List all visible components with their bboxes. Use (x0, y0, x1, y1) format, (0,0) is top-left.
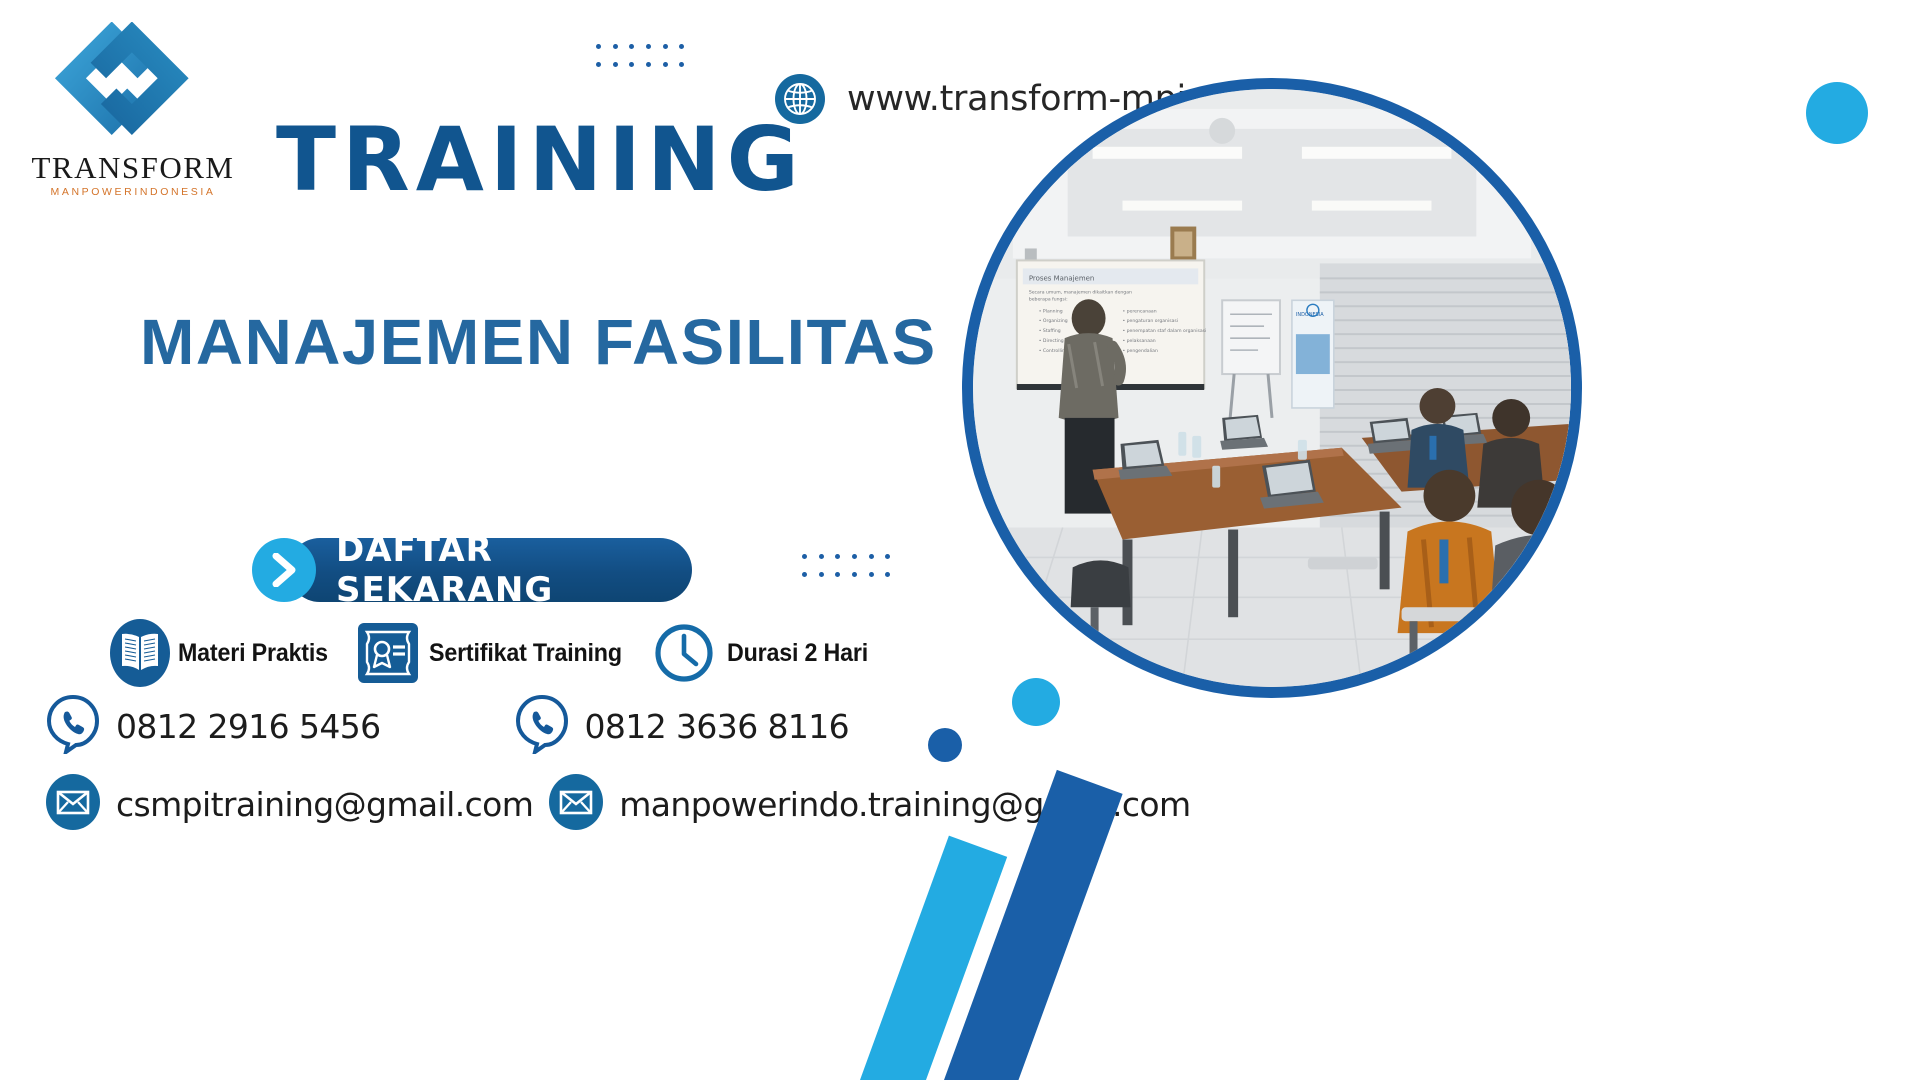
svg-text:• Controlling: • Controlling (1039, 348, 1068, 354)
svg-text:• penempatan staf dalam organi: • penempatan staf dalam organisasi (1123, 328, 1207, 334)
envelope-icon (44, 773, 102, 836)
svg-text:• perencanaan: • perencanaan (1123, 308, 1157, 314)
brand-logo[interactable]: TRANSFORM MANPOWERINDONESIA (28, 22, 238, 198)
chevron-right-icon (270, 553, 298, 587)
accent-dot-small (928, 728, 962, 762)
promo-banner: TRANSFORM MANPOWERINDONESIA www.transfor… (0, 0, 1920, 1080)
contact-block: 0812 2916 5456 0812 3636 8116 (44, 694, 964, 836)
feature-label: Durasi 2 Hari (727, 639, 868, 668)
cta-arrow-badge (252, 538, 316, 602)
accent-dot-top-right (1806, 82, 1868, 144)
dot-grid-decoration-middle (802, 554, 902, 590)
feature-label: Materi Praktis (178, 639, 328, 668)
certificate-icon (357, 622, 419, 684)
phone-number: 0812 2916 5456 (116, 707, 381, 746)
page-title: MANAJEMEN FASILITAS (140, 310, 937, 374)
svg-text:• Planning: • Planning (1039, 308, 1063, 314)
register-cta[interactable]: DAFTAR SEKARANG (252, 538, 692, 602)
contact-phone-1[interactable]: 0812 2916 5456 (44, 694, 381, 759)
whatsapp-icon (513, 694, 571, 759)
svg-text:• Directing: • Directing (1039, 338, 1064, 344)
svg-text:• Staffing: • Staffing (1039, 328, 1061, 334)
phone-number: 0812 3636 8116 (585, 707, 850, 746)
dot-grid-decoration-top (596, 44, 696, 80)
open-book-icon (108, 618, 172, 688)
accent-dot-mid-left (1012, 678, 1060, 726)
brand-tagline: MANPOWERINDONESIA (28, 187, 238, 198)
training-classroom-photo: Proses Manajemen Secara umum, manajemen … (962, 78, 1582, 698)
email-address: csmpitraining@gmail.com (116, 785, 533, 824)
svg-text:• pelaksanaan: • pelaksanaan (1123, 338, 1156, 344)
svg-text:beberapa fungsi:: beberapa fungsi: (1029, 296, 1068, 302)
contact-email-1[interactable]: csmpitraining@gmail.com (44, 773, 533, 836)
envelope-icon (547, 773, 605, 836)
feature-badge-list: Materi Praktis Sertifikat Training (108, 618, 878, 688)
feature-durasi: Durasi 2 Hari (653, 622, 879, 684)
svg-text:• Organizing: • Organizing (1039, 318, 1068, 324)
feature-sertifikat-training: Sertifikat Training (357, 622, 636, 684)
eyebrow-heading: TRAINING (276, 116, 805, 204)
svg-text:Secara umum, manajemen dikaitk: Secara umum, manajemen dikaitkan dengan (1029, 289, 1132, 295)
email-row: csmpitraining@gmail.com manpowerindo.tra… (44, 772, 964, 836)
brand-name: TRANSFORM (28, 152, 238, 183)
svg-text:• pengendalian: • pengendalian (1123, 348, 1158, 354)
contact-phone-2[interactable]: 0812 3636 8116 (513, 694, 850, 759)
photo-illustration: Proses Manajemen Secara umum, manajemen … (973, 89, 1571, 687)
cta-label: DAFTAR SEKARANG (336, 538, 692, 602)
svg-text:• pengaturan organisasi: • pengaturan organisasi (1123, 318, 1179, 324)
clock-icon (653, 622, 715, 684)
svg-text:Proses Manajemen: Proses Manajemen (1029, 274, 1095, 282)
phone-row: 0812 2916 5456 0812 3636 8116 (44, 694, 964, 758)
transform-diamond-logo-icon (53, 22, 213, 150)
feature-label: Sertifikat Training (429, 639, 622, 668)
whatsapp-icon (44, 694, 102, 759)
feature-materi-praktis: Materi Praktis (108, 618, 339, 688)
